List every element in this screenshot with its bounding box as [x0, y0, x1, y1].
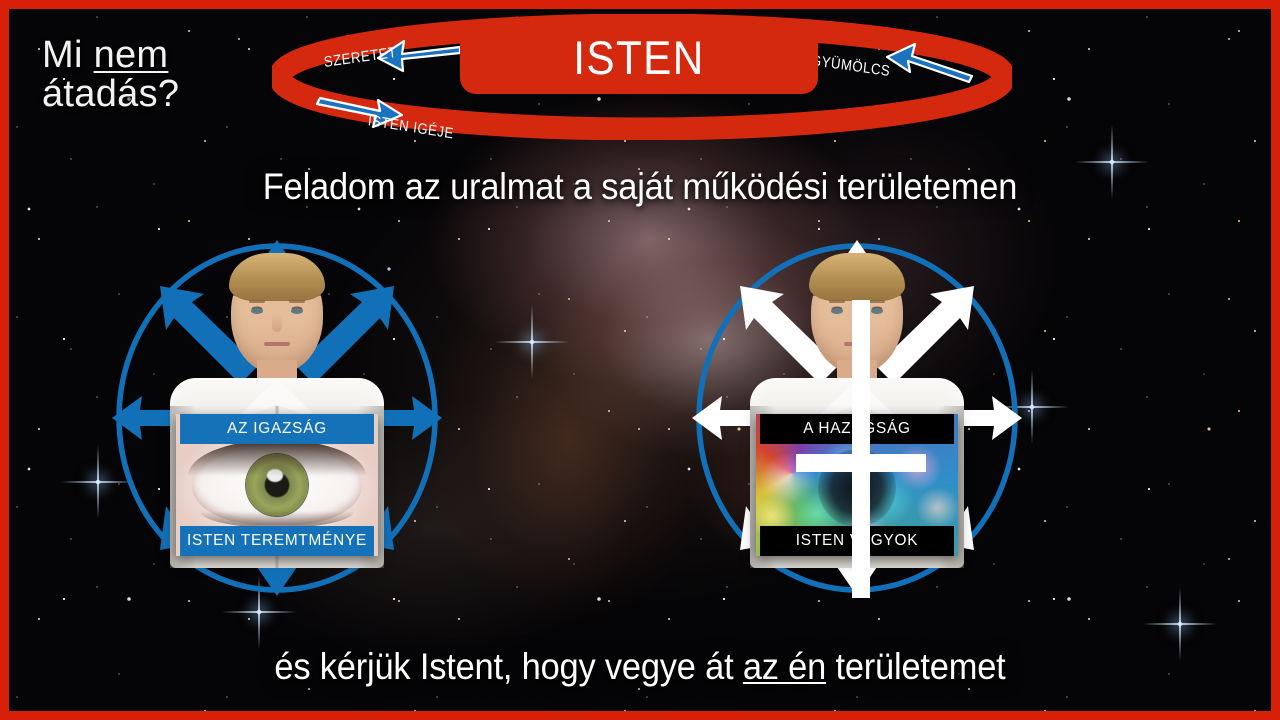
- truth-card-top-banner: AZ IGAZSÁG: [180, 414, 374, 444]
- person-head: [231, 256, 323, 374]
- lie-diagram: A HAZUGSÁG ISTEN VAGYOK: [692, 238, 1022, 598]
- truth-diagram: AZ IGAZSÁG ISTEN TEREMTMÉNYE: [112, 238, 442, 598]
- white-cross-vertical: [852, 300, 870, 598]
- person-eyebrow-left: [249, 300, 265, 303]
- person-hair: [229, 253, 325, 301]
- title-emphasis-nem: nem: [94, 34, 169, 76]
- bright-star: [256, 609, 262, 615]
- page-title: Mi nem átadás?: [42, 36, 179, 114]
- person-figure: AZ IGAZSÁG ISTEN TEREMTMÉNYE: [170, 256, 384, 568]
- isten-badge-label: ISTEN: [573, 30, 704, 85]
- bright-star: [1029, 404, 1035, 410]
- bright-star: [1177, 621, 1183, 627]
- bright-star: [1109, 159, 1115, 165]
- white-cross-horizontal: [796, 454, 926, 472]
- bright-star: [529, 339, 535, 345]
- person-eyebrow-right: [869, 300, 885, 303]
- truth-card-bottom-banner: ISTEN TEREMTMÉNYE: [180, 526, 374, 556]
- person-eyebrow-right: [289, 300, 305, 303]
- headline-text: Feladom az uralmat a saját működési terü…: [45, 166, 1235, 208]
- truth-card: AZ IGAZSÁG ISTEN TEREMTMÉNYE: [176, 414, 378, 556]
- person-eye-right: [291, 308, 303, 314]
- eye-upper-lashes: [188, 440, 366, 477]
- footline-suffix: területemet: [826, 646, 1005, 687]
- footline-text: és kérjük Istent, hogy vegye át az én te…: [45, 646, 1235, 688]
- person-eye-left: [831, 308, 843, 314]
- title-line-1: Mi nem: [42, 36, 179, 75]
- isten-badge: ISTEN: [460, 20, 818, 94]
- god-cycle-diagram: SZERETET GYÜMÖLCS ISTEN IGÉJE ISTEN: [272, 14, 1012, 140]
- title-prefix: Mi: [42, 34, 94, 76]
- slide-canvas: Mi nem átadás? SZERETET GYÜMÖLCS ISTEN I…: [0, 0, 1280, 720]
- person-eyebrow-left: [829, 300, 845, 303]
- footline-prefix: és kérjük Istent, hogy vegye át: [274, 646, 742, 687]
- footline-emphasis-az-en: az én: [743, 646, 826, 687]
- title-line-2: átadás?: [42, 75, 179, 114]
- bright-star: [95, 479, 101, 485]
- truth-card-top-label: AZ IGAZSÁG: [227, 420, 327, 438]
- person-nose: [272, 314, 282, 332]
- person-eye-left: [251, 308, 263, 314]
- truth-card-bottom-label: ISTEN TEREMTMÉNYE: [187, 532, 367, 550]
- person-eye-right: [871, 308, 883, 314]
- person-mouth: [264, 342, 290, 346]
- person-hair: [809, 253, 905, 301]
